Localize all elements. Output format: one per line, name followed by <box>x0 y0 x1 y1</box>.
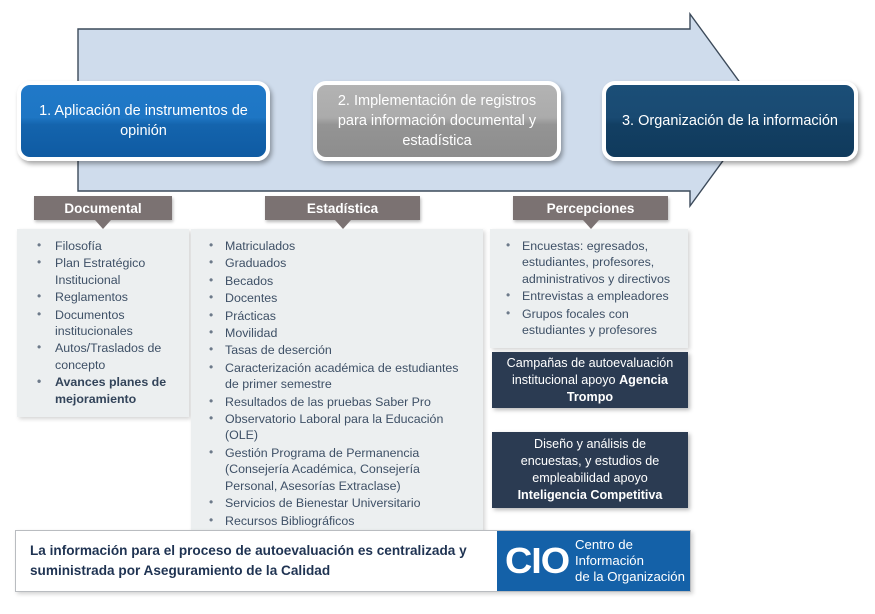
list-item: Plan Estratégico Institucional <box>23 255 181 288</box>
banner-text: La información para el proceso de autoev… <box>16 531 497 591</box>
step-box-1-label: 1. Aplicación de instrumentos de opinión <box>35 101 252 141</box>
note-box-inteligencia-competitiva-text: Diseño y análisis de encuestas, y estudi… <box>502 436 678 504</box>
bullet-list-documental: FilosofíaPlan Estratégico InstitucionalR… <box>23 238 181 407</box>
category-header-percepciones[interactable]: Percepciones <box>513 196 668 220</box>
list-item: Entrevistas a empleadores <box>496 288 680 304</box>
step-box-3-label: 3. Organización de la información <box>622 111 838 131</box>
list-item: Resultados de las pruebas Saber Pro <box>197 394 475 410</box>
step-box-2[interactable]: 2. Implementación de registros para info… <box>313 81 561 161</box>
list-item: Servicios de Bienestar Universitario <box>197 495 475 511</box>
category-header-documental-label: Documental <box>64 201 141 216</box>
list-item: Documentos institucionales <box>23 307 181 340</box>
category-header-estadistica-label: Estadística <box>307 201 378 216</box>
list-item: Caracterización académica de estudiantes… <box>197 360 475 393</box>
cio-logo-wordmark: Centro de Información de la Organización <box>575 537 690 585</box>
note-box-agencia-trompo-text: Campañas de autoevaluación institucional… <box>502 355 678 406</box>
list-item: Recursos Bibliográficos <box>197 513 475 529</box>
list-panel-documental: FilosofíaPlan Estratégico InstitucionalR… <box>17 229 189 417</box>
note-box-agencia-trompo[interactable]: Campañas de autoevaluación institucional… <box>492 352 688 408</box>
list-item: Autos/Traslados de concepto <box>23 340 181 373</box>
cio-logo: CIO Centro de Información de la Organiza… <box>497 531 690 591</box>
bullet-list-percepciones: Encuestas: egresados, estudiantes, profe… <box>496 238 680 338</box>
list-item: Prácticas <box>197 308 475 324</box>
list-panel-percepciones: Encuestas: egresados, estudiantes, profe… <box>490 229 688 348</box>
list-panel-estadistica: MatriculadosGraduadosBecadosDocentesPrác… <box>191 229 483 556</box>
list-item: Tasas de deserción <box>197 342 475 358</box>
bullet-list-estadistica: MatriculadosGraduadosBecadosDocentesPrác… <box>197 238 475 546</box>
list-item: Avances planes de mejoramiento <box>23 374 181 407</box>
list-item: Observatorio Laboral para la Educación (… <box>197 411 475 444</box>
category-header-estadistica[interactable]: Estadística <box>265 196 420 220</box>
list-item: Movilidad <box>197 325 475 341</box>
cio-logo-line1: Centro de Información <box>575 537 690 569</box>
category-header-percepciones-label: Percepciones <box>547 201 635 216</box>
step-box-2-label: 2. Implementación de registros para info… <box>331 91 543 151</box>
step-box-1[interactable]: 1. Aplicación de instrumentos de opinión <box>17 81 270 161</box>
list-item: Encuestas: egresados, estudiantes, profe… <box>496 238 680 287</box>
list-item: Filosofía <box>23 238 181 254</box>
note-emphasis: Agencia Trompo <box>567 373 668 404</box>
list-item: Docentes <box>197 290 475 306</box>
category-header-documental[interactable]: Documental <box>34 196 172 220</box>
list-item: Graduados <box>197 255 475 271</box>
step-box-3[interactable]: 3. Organización de la información <box>602 81 858 161</box>
cio-logo-mark: CIO <box>505 543 569 579</box>
list-item: Matriculados <box>197 238 475 254</box>
note-emphasis: Inteligencia Competitiva <box>518 488 663 502</box>
list-item: Gestión Programa de Permanencia (Conseje… <box>197 445 475 494</box>
note-box-inteligencia-competitiva[interactable]: Diseño y análisis de encuestas, y estudi… <box>492 432 688 508</box>
bottom-banner: La información para el proceso de autoev… <box>15 530 691 592</box>
cio-logo-line2: de la Organización <box>575 569 690 585</box>
list-item: Grupos focales con estudiantes y profeso… <box>496 306 680 339</box>
list-item: Becados <box>197 273 475 289</box>
list-item: Reglamentos <box>23 289 181 305</box>
